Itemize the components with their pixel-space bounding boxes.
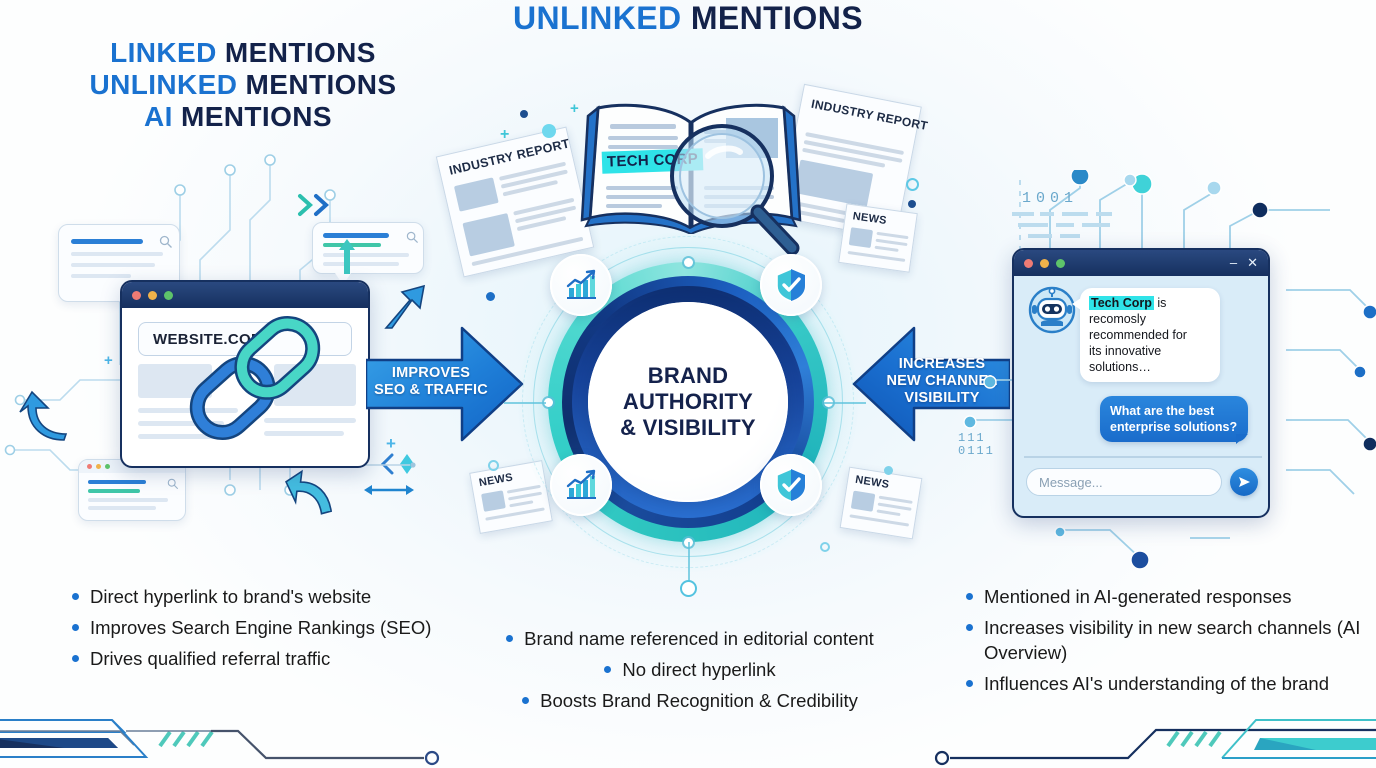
list-item: Influences AI's understanding of the bra… — [966, 671, 1366, 696]
send-arrow-icon — [1237, 475, 1251, 489]
chart-growth-icon — [564, 468, 598, 502]
list-item: No direct hyperlink — [604, 657, 775, 682]
close-dot-icon[interactable] — [132, 291, 141, 300]
message-input[interactable]: Message... — [1026, 468, 1222, 496]
paper-label: NEWS — [852, 210, 888, 227]
center-heading-highlight: UNLINKED — [89, 69, 237, 100]
center-heading-rest: MENTIONS — [237, 69, 396, 100]
arrow-left-label-line2: SEO & TRAFFIC — [366, 382, 496, 399]
paper-label: INDUSTRY REPORT — [448, 136, 571, 177]
curved-arrow-up-right-icon — [282, 466, 338, 522]
minimize-dot-icon[interactable] — [148, 291, 157, 300]
dot-accent — [542, 124, 556, 138]
paper-label: NEWS — [478, 471, 514, 489]
top-heading: UNLINKED MENTIONS — [0, 0, 1376, 37]
user-message-line1: What are the best — [1110, 403, 1238, 419]
list-item: Drives qualified referral traffic — [72, 646, 482, 671]
footer-decor-right — [916, 700, 1376, 768]
top-heading-highlight: UNLINKED — [513, 0, 682, 36]
minimize-dot-icon[interactable] — [1040, 259, 1049, 268]
infographic-canvas: + + WEBSITE.COM — [0, 0, 1376, 768]
dot-accent — [486, 292, 495, 301]
growth-chart-badge — [550, 254, 612, 316]
hub-core: BRAND AUTHORITY & VISIBILITY — [588, 302, 788, 502]
bot-message-line2: recomosly — [1089, 311, 1211, 327]
search-icon — [167, 478, 179, 490]
hub-label: BRAND AUTHORITY & VISIBILITY — [620, 363, 756, 441]
paper-label-text: INDUSTRY REPORT — [810, 97, 929, 133]
arrow-left-label-line1: IMPROVES — [366, 365, 496, 382]
bot-message-highlight: Tech Corp — [1089, 296, 1154, 310]
plus-accent-icon: + — [500, 126, 509, 144]
shield-check-icon — [774, 267, 808, 303]
bot-message-line5: solutions… — [1089, 359, 1211, 375]
ring-accent — [906, 178, 919, 191]
chain-link-icon — [160, 283, 350, 473]
hub-spoke-bottom — [688, 542, 690, 584]
plus-accent-icon: + — [570, 100, 579, 117]
left-heading-highlight: LINKED — [110, 37, 217, 68]
hub-terminal-ring — [680, 580, 697, 597]
list-item: Boosts Brand Recognition & Credibility — [522, 688, 858, 713]
list-item: Mentioned in AI-generated responses — [966, 584, 1366, 609]
close-dot-icon[interactable] — [1024, 259, 1033, 268]
arrow-left-label: IMPROVES SEO & TRAFFIC — [366, 365, 496, 399]
bidirectional-arrow-icon — [360, 482, 418, 498]
left-panel-bullets: Direct hyperlink to brand's website Impr… — [72, 584, 482, 677]
ring-accent — [488, 460, 499, 471]
search-icon — [406, 231, 419, 244]
dot-accent — [520, 110, 528, 118]
list-item: Direct hyperlink to brand's website — [72, 584, 482, 609]
hub-spoke-left — [504, 402, 546, 404]
list-item: Improves Search Engine Rankings (SEO) — [72, 615, 482, 640]
shield-check-badge-2 — [760, 454, 822, 516]
growth-chart-badge-2 — [550, 454, 612, 516]
search-icon — [159, 235, 173, 249]
right-heading-rest: MENTIONS — [173, 101, 332, 132]
binary-decor-left: 1110111 — [958, 432, 995, 458]
up-arrow-icon — [336, 236, 358, 276]
close-button[interactable]: ✕ — [1247, 255, 1258, 271]
list-item: Increases visibility in new search chann… — [966, 615, 1366, 665]
binary-decor: 1001 — [1022, 190, 1078, 207]
bot-message-line1: is — [1154, 296, 1167, 310]
minimize-button[interactable]: – — [1230, 255, 1237, 271]
bot-bubble-tail — [1072, 298, 1081, 310]
user-message-line2: enterprise solutions? — [1110, 419, 1238, 435]
shield-check-badge — [760, 254, 822, 316]
dot-accent — [884, 466, 893, 475]
list-item: Brand name referenced in editorial conte… — [506, 626, 874, 651]
hub-label-line3: & VISIBILITY — [620, 415, 756, 441]
curved-arrow-up-left-icon — [18, 390, 72, 446]
hub-label-line2: AUTHORITY — [620, 389, 756, 415]
right-heading-highlight: AI — [144, 101, 173, 132]
left-panel-heading: LINKED MENTIONS — [0, 37, 486, 69]
chat-titlebar: – ✕ — [1014, 250, 1268, 276]
send-button[interactable] — [1230, 468, 1258, 496]
bot-message-line3: recommended for — [1089, 327, 1211, 343]
left-heading-rest: MENTIONS — [217, 37, 376, 68]
search-result-card-upper-right — [312, 222, 424, 274]
center-panel-heading: UNLINKED MENTIONS — [0, 69, 486, 101]
maximize-dot-icon[interactable] — [1056, 259, 1065, 268]
hub-label-line1: BRAND — [620, 363, 756, 389]
paper-label: NEWS — [854, 474, 890, 491]
user-message-bubble: What are the best enterprise solutions? — [1100, 396, 1248, 442]
center-panel-bullets: Brand name referenced in editorial conte… — [470, 626, 910, 719]
robot-avatar-icon — [1028, 286, 1076, 334]
right-panel-heading: AI MENTIONS — [0, 101, 476, 133]
paper-label: INDUSTRY REPORT — [810, 97, 929, 133]
dot-accent — [908, 200, 916, 208]
footer-decor-left — [0, 700, 460, 768]
hub-node-top — [684, 258, 693, 267]
chart-growth-icon — [564, 268, 598, 302]
right-panel-bullets: Mentioned in AI-generated responses Incr… — [966, 584, 1366, 702]
bot-message-line4: its innovative — [1089, 343, 1211, 359]
chat-divider — [1024, 456, 1262, 458]
shield-check-icon — [774, 467, 808, 503]
ai-chat-window[interactable]: – ✕ Tech Corp is recomosly recommended f… — [1012, 248, 1270, 518]
plus-accent-icon: + — [104, 352, 113, 369]
chevron-pair-icon — [296, 192, 336, 218]
bot-message-bubble: Tech Corp is recomosly recommended for i… — [1080, 288, 1220, 382]
binary-decor-bars — [1012, 212, 1122, 248]
top-heading-rest: MENTIONS — [682, 0, 863, 36]
message-input-placeholder: Message... — [1039, 475, 1103, 490]
user-bubble-tail — [1236, 434, 1248, 444]
